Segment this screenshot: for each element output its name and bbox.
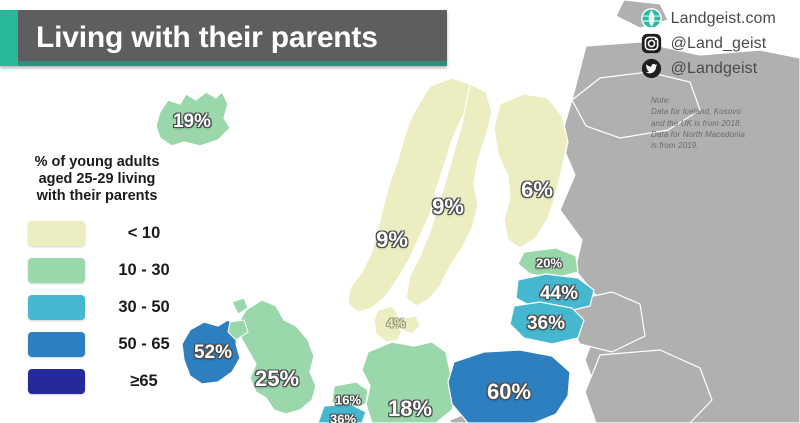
- legend-label-3: 50 - 65: [101, 335, 187, 354]
- legend-label-0: < 10: [101, 224, 187, 243]
- legend-swatch-0: [28, 221, 85, 246]
- legend-row-0[interactable]: < 10: [8, 215, 208, 252]
- legend-row-1[interactable]: 10 - 30: [8, 252, 208, 289]
- legend: % of young adults aged 25-29 living with…: [8, 154, 208, 400]
- note-line-3: Data for North Macedonia: [651, 129, 800, 140]
- region-poland: [448, 350, 570, 423]
- legend-row-4[interactable]: ≥65: [8, 363, 208, 400]
- brand-row-twitter[interactable]: @Landgeist: [641, 58, 776, 79]
- note-title: Note:: [651, 95, 800, 106]
- legend-title-line-1: % of young adults: [8, 154, 186, 171]
- note-line-1: Data for Iceland, Kosovo: [651, 106, 800, 117]
- legend-label-1: 10 - 30: [101, 261, 187, 280]
- legend-row-3[interactable]: 50 - 65: [8, 326, 208, 363]
- legend-swatch-1: [28, 258, 85, 283]
- legend-row-2[interactable]: 30 - 50: [8, 289, 208, 326]
- instagram-icon: [641, 33, 662, 54]
- infographic-map: 19% 9% 9% 6% 4% 20% 44% 36% 52% 25% 16% …: [0, 0, 800, 423]
- legend-label-2: 30 - 50: [101, 298, 187, 317]
- note-line-4: is from 2019.: [651, 140, 800, 151]
- legend-label-4: ≥65: [101, 372, 187, 391]
- title-accent-bar: [0, 10, 18, 66]
- brand-label-instagram: @Land_geist: [671, 35, 767, 53]
- legend-swatch-4: [28, 369, 85, 394]
- legend-swatch-3: [28, 332, 85, 357]
- map-note: Note: Data for Iceland, Kosovo and the U…: [651, 95, 800, 152]
- brand-row-instagram[interactable]: @Land_geist: [641, 33, 776, 54]
- brand-label-website: Landgeist.com: [671, 10, 776, 28]
- legend-title-line-2: aged 25-29 living: [8, 171, 186, 188]
- region-germany: [362, 342, 458, 423]
- brand-row-website[interactable]: Landgeist.com: [641, 8, 776, 29]
- branding-block: Landgeist.com @Land_geist @Landgeist: [641, 8, 776, 79]
- twitter-icon: [641, 58, 662, 79]
- note-line-2: and the UK is from 2018.: [651, 118, 800, 129]
- globe-icon: [641, 8, 662, 29]
- legend-title: % of young adults aged 25-29 living with…: [8, 154, 186, 205]
- legend-items: < 10 10 - 30 30 - 50 50 - 65 ≥65: [8, 215, 208, 400]
- title-underline: [18, 61, 447, 66]
- brand-label-twitter: @Landgeist: [671, 60, 758, 78]
- legend-swatch-2: [28, 295, 85, 320]
- title-bar: Living with their parents: [0, 10, 447, 66]
- legend-title-line-3: with their parents: [8, 188, 186, 205]
- page-title: Living with their parents: [18, 21, 378, 55]
